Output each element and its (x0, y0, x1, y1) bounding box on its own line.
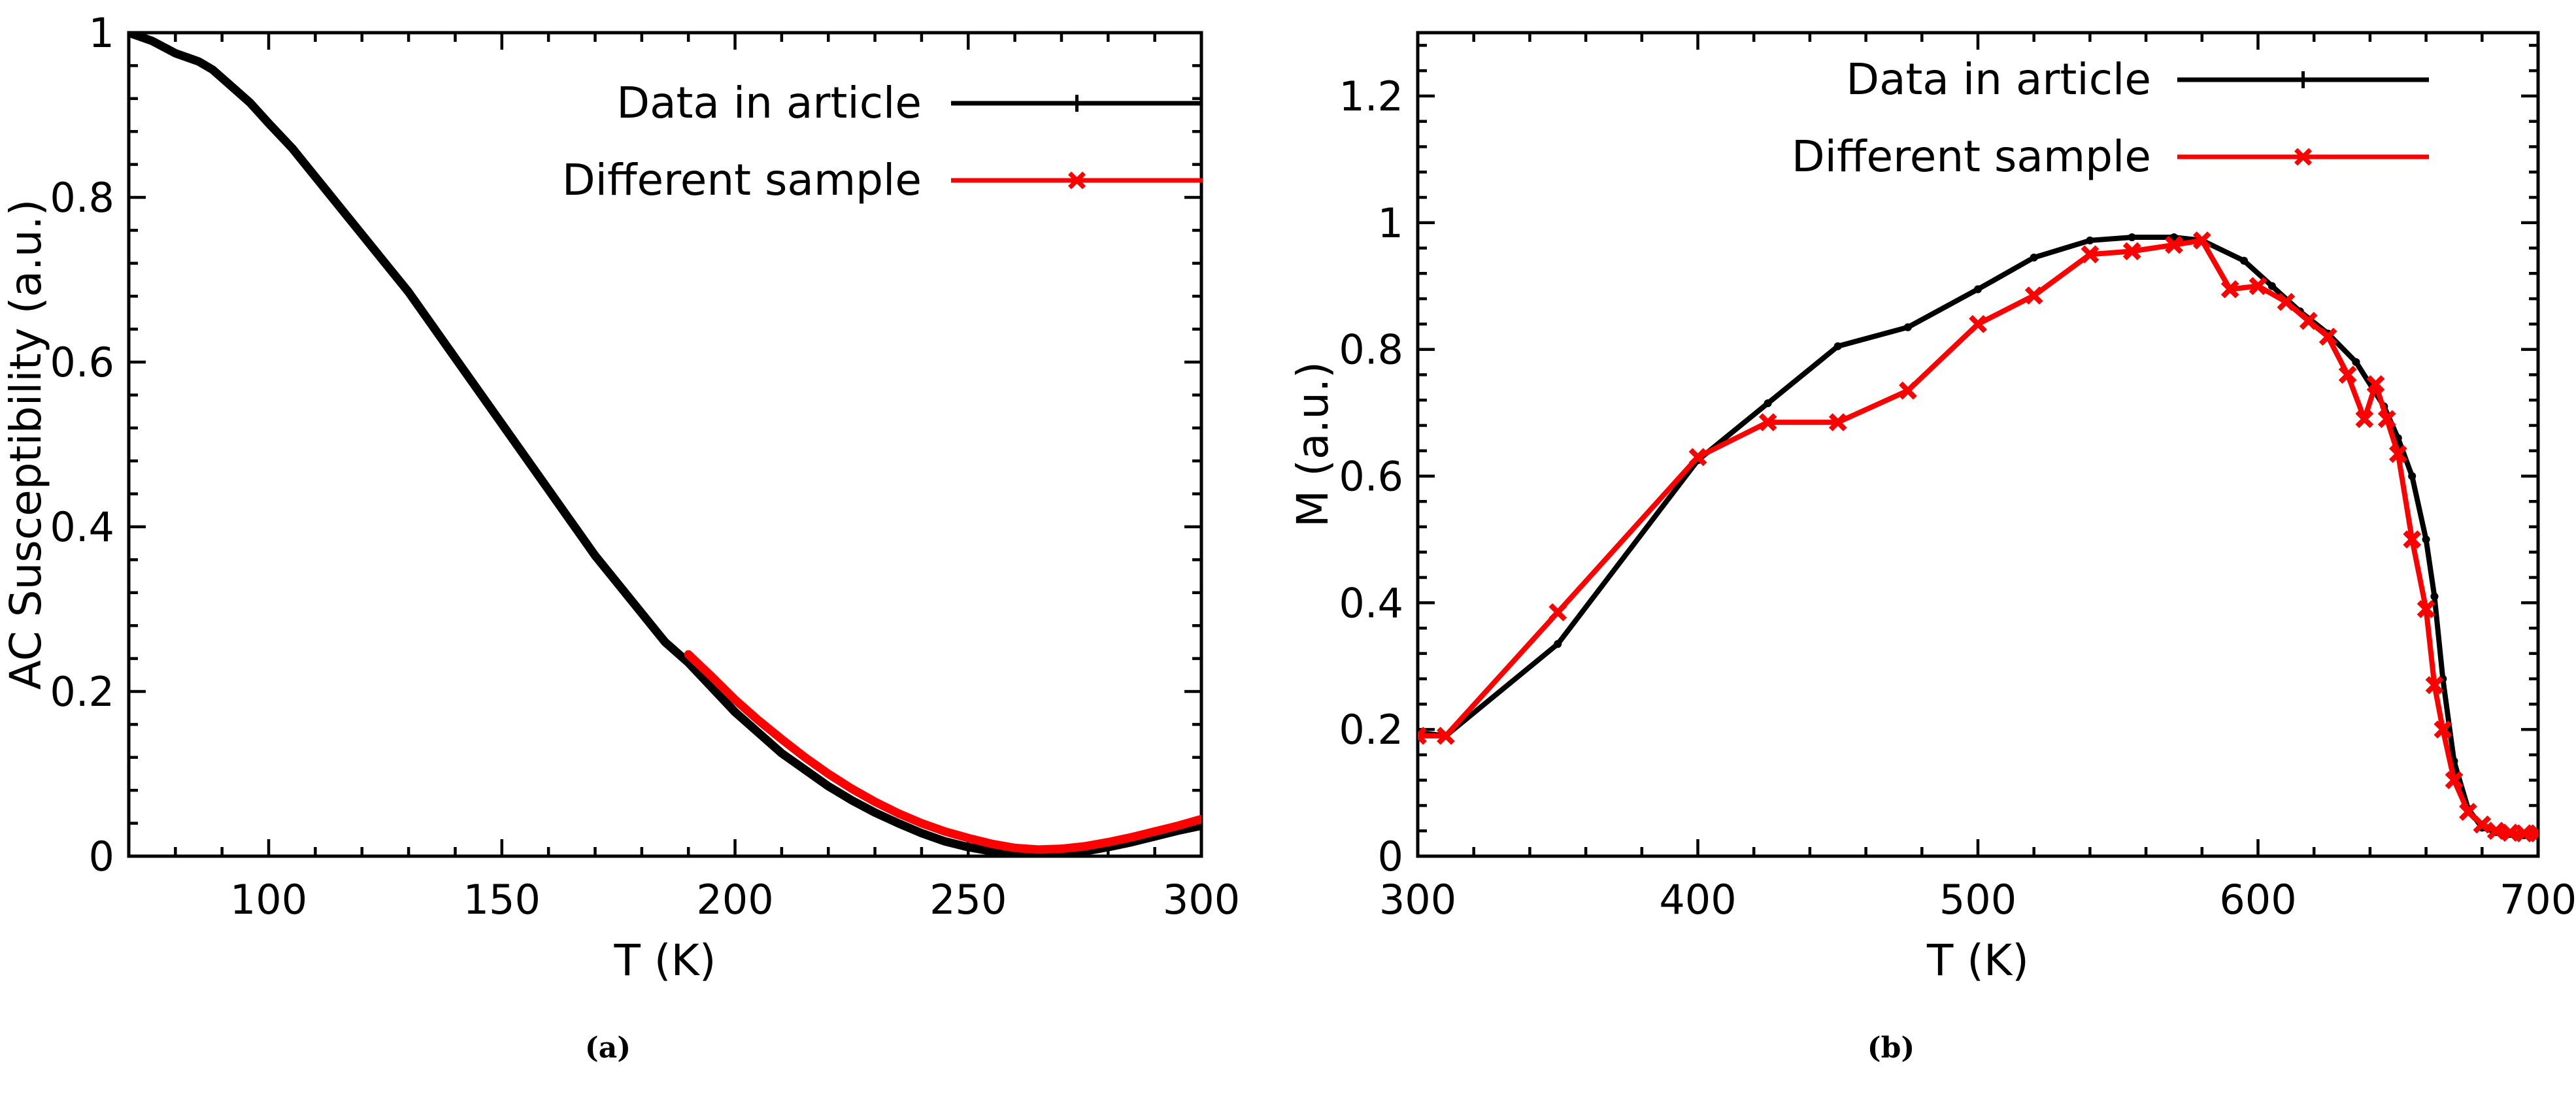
legend-label-1: Different sample (1792, 131, 2151, 182)
data-marker-x (1550, 605, 1565, 620)
y-tick-label: 1 (1378, 199, 1403, 247)
legend-label-0: Data in article (616, 78, 922, 128)
y-tick-label: 0.6 (50, 339, 114, 386)
data-marker-point (2422, 535, 2430, 543)
data-marker-point (2408, 472, 2416, 480)
x-tick-label: 150 (463, 876, 541, 924)
legend-label-1: Different sample (562, 155, 922, 205)
data-marker-point (2240, 257, 2248, 265)
data-marker-point (2086, 237, 2094, 244)
x-tick-label: 200 (696, 876, 773, 924)
chart-a: 10015020025030000.20.40.60.81T (K)AC Sus… (0, 0, 1288, 1007)
x-tick-label: 400 (1659, 876, 1736, 924)
y-tick-label: 1 (89, 9, 114, 57)
y-tick-label: 0 (89, 833, 114, 880)
data-marker-point (2128, 233, 2136, 241)
x-tick-label: 600 (2219, 876, 2296, 924)
y-tick-label: 0.8 (1339, 326, 1403, 374)
data-marker-point (1904, 324, 1912, 331)
x-tick-label: 250 (929, 876, 1007, 924)
data-marker-point (1834, 342, 1842, 350)
x-axis-label: T (K) (1926, 935, 2029, 986)
y-tick-label: 0.2 (1339, 706, 1403, 754)
y-tick-label: 0.4 (50, 503, 114, 551)
x-tick-label: 700 (2500, 876, 2576, 924)
y-tick-label: 0 (1378, 833, 1403, 880)
chart-b: 30040050060070000.20.40.60.811.2T (K)M (… (1288, 0, 2576, 1007)
data-marker-point (2030, 254, 2038, 261)
y-tick-label: 0.4 (1339, 579, 1403, 627)
figure-container: 10015020025030000.20.40.60.81T (K)AC Sus… (0, 0, 2576, 1115)
y-tick-label: 0.8 (50, 174, 114, 222)
data-marker-point (2352, 358, 2360, 366)
panel-b: 30040050060070000.20.40.60.811.2T (K)M (… (1288, 0, 2576, 1115)
data-marker-point (2268, 282, 2276, 290)
data-marker-point (2430, 593, 2438, 601)
y-axis-label: M (a.u.) (1288, 361, 1338, 527)
legend-label-0: Data in article (1846, 54, 2151, 105)
y-tick-label: 0.2 (50, 668, 114, 716)
panel-a: 10015020025030000.20.40.60.81T (K)AC Sus… (0, 0, 1288, 1115)
x-tick-label: 500 (1939, 876, 2016, 924)
x-tick-label: 300 (1379, 876, 1456, 924)
data-marker-point (1554, 640, 1562, 648)
y-tick-label: 1.2 (1339, 73, 1403, 120)
data-marker-point (1764, 399, 1772, 407)
series-group (1411, 233, 2545, 840)
y-tick-label: 0.6 (1339, 452, 1403, 500)
series-line-1 (1418, 241, 2538, 833)
legend: Data in articleDifferent sample (1792, 54, 2429, 182)
panel-b-sublabel: (b) (1826, 1031, 1956, 1065)
y-axis-label: AC Susceptibility (a.u.) (1, 199, 51, 690)
x-tick-label: 100 (230, 876, 307, 924)
x-axis-label: T (K) (613, 935, 716, 986)
panel-a-sublabel: (a) (543, 1031, 673, 1065)
data-marker-point (1974, 285, 1982, 293)
legend: Data in articleDifferent sample (562, 78, 1203, 205)
series-line-1 (688, 654, 1201, 850)
x-tick-label: 300 (1163, 876, 1240, 924)
